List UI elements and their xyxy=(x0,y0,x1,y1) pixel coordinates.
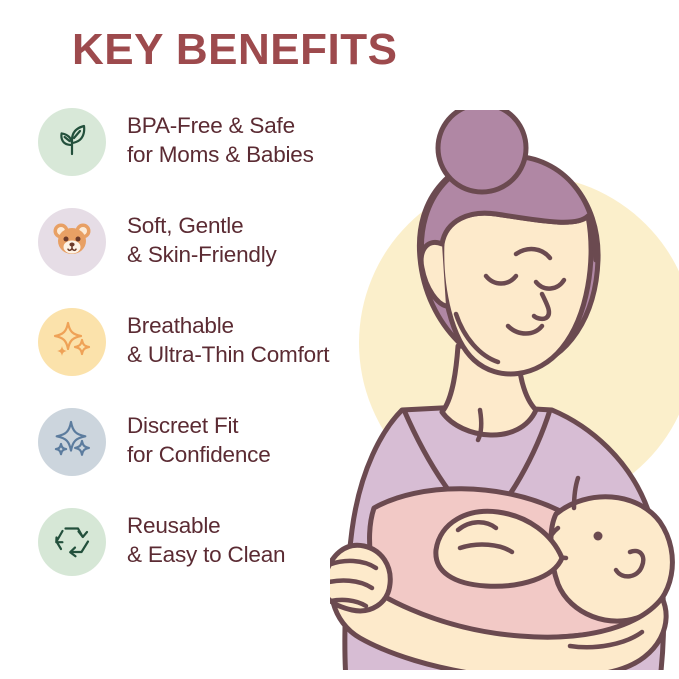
benefit-line-2: for Moms & Babies xyxy=(127,141,314,170)
benefit-label: BPA-Free & Safe for Moms & Babies xyxy=(127,112,314,170)
benefit-label: Soft, Gentle & Skin-Friendly xyxy=(127,212,277,270)
leaf-sprout-icon xyxy=(52,120,92,165)
benefit-icon-circle xyxy=(38,408,106,476)
benefit-item-soft-gentle: Soft, Gentle & Skin-Friendly xyxy=(38,206,383,306)
benefit-line-2: & Easy to Clean xyxy=(127,541,285,570)
benefits-list: BPA-Free & Safe for Moms & Babies xyxy=(38,106,383,606)
benefit-item-bpa-free: BPA-Free & Safe for Moms & Babies xyxy=(38,106,383,206)
baby-eye xyxy=(594,532,603,541)
page-title: KEY BENEFITS xyxy=(72,26,397,74)
benefit-line-1: Breathable xyxy=(127,313,234,338)
benefit-item-reusable: Reusable & Easy to Clean xyxy=(38,506,383,606)
benefit-icon-circle xyxy=(38,308,106,376)
benefit-line-2: & Ultra-Thin Comfort xyxy=(127,341,329,370)
benefit-label: Breathable & Ultra-Thin Comfort xyxy=(127,312,329,370)
mother-hair-bun xyxy=(438,110,526,192)
benefit-line-1: Discreet Fit xyxy=(127,413,238,438)
benefit-icon-circle xyxy=(38,108,106,176)
key-benefits-page: KEY BENEFITS xyxy=(0,0,679,679)
benefit-icon-circle xyxy=(38,208,106,276)
recycle-icon xyxy=(51,519,93,566)
benefit-line-1: Reusable xyxy=(127,513,220,538)
sparkles-outline-icon xyxy=(51,419,93,466)
benefit-line-1: BPA-Free & Safe xyxy=(127,113,295,138)
benefit-item-breathable: Breathable & Ultra-Thin Comfort xyxy=(38,306,383,406)
benefit-label: Discreet Fit for Confidence xyxy=(127,412,271,470)
baby-head xyxy=(551,497,673,621)
benefit-label: Reusable & Easy to Clean xyxy=(127,512,285,570)
sparkles-filled-icon xyxy=(51,319,93,366)
benefit-item-discreet-fit: Discreet Fit for Confidence xyxy=(38,406,383,506)
benefit-icon-circle xyxy=(38,508,106,576)
benefit-line-1: Soft, Gentle xyxy=(127,213,243,238)
benefit-line-2: & Skin-Friendly xyxy=(127,241,277,270)
benefit-line-2: for Confidence xyxy=(127,441,271,470)
teddy-bear-icon xyxy=(50,218,94,267)
